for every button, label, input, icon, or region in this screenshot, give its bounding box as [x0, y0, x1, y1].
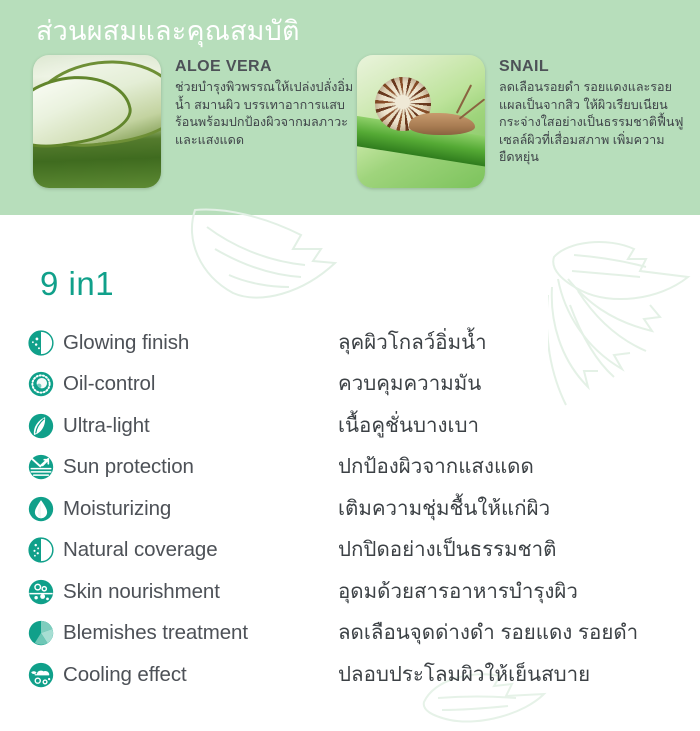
benefit-row: Skin nourishment อุดมด้วยสารอาหารบำรุงผิ… — [28, 571, 678, 613]
benefit-label-th: ปลอบประโลมผิวให้เย็นสบาย — [338, 662, 590, 688]
benefit-row: Natural coverage ปกปิดอย่างเป็นธรรมชาติ — [28, 530, 678, 572]
benefit-label-th: ลดเลือนจุดด่างดำ รอยแดง รอยดำ — [338, 620, 638, 646]
benefit-row: Moisturizing เติมความชุ่มชื้นให้แก่ผิว — [28, 488, 678, 530]
aloe-vera-photo — [33, 55, 161, 188]
moisturizing-icon — [28, 496, 54, 522]
benefit-label-th: ปกปิดอย่างเป็นธรรมชาติ — [338, 537, 556, 563]
ingredient-name: ALOE VERA — [175, 57, 365, 77]
ultra-light-icon — [28, 413, 54, 439]
benefit-label-th: ปกป้องผิวจากแสงแดด — [338, 454, 534, 480]
natural-coverage-icon — [28, 537, 54, 563]
benefit-label-en: Ultra-light — [63, 414, 338, 438]
ingredient-text-block: SNAIL ลดเลือนรอยดำ รอยแดงและรอยแผลเป็นจา… — [499, 57, 689, 167]
leaf-watermark-top — [185, 205, 345, 310]
ingredient-text-block: ALOE VERA ช่วยบำรุงพิวพรรณให้เปล่งปลั่งอ… — [175, 57, 365, 149]
benefit-row: Blemishes treatment ลดเลือนจุดด่างดำ รอย… — [28, 613, 678, 655]
benefit-row: Sun protection ปกป้องผิวจากแสงแดด — [28, 447, 678, 489]
benefit-row: Oil-control ควบคุมความมัน — [28, 364, 678, 406]
ingredient-description: ช่วยบำรุงพิวพรรณให้เปล่งปลั่งอิ่มน้ำ สมา… — [175, 79, 365, 149]
benefit-label-en: Blemishes treatment — [63, 621, 338, 645]
benefit-label-th: เติมความชุ่มชื้นให้แก่ผิว — [338, 496, 550, 522]
benefit-row: Ultra-light เนื้อคูชั่นบางเบา — [28, 405, 678, 447]
oil-control-icon — [28, 371, 54, 397]
snail-body-icon — [409, 113, 475, 135]
ingredient-description: ลดเลือนรอยดำ รอยแดงและรอยแผลเป็นจากสิว ใ… — [499, 79, 689, 167]
blemishes-treatment-icon — [28, 620, 54, 646]
benefit-row: Glowing finish ลุคผิวโกลว์อิ่มน้ำ — [28, 322, 678, 364]
snail-photo — [357, 55, 485, 188]
skin-nourishment-icon — [28, 579, 54, 605]
benefit-label-en: Cooling effect — [63, 663, 338, 687]
benefit-label-en: Moisturizing — [63, 497, 338, 521]
benefit-row: Cooling effect ปลอบประโลมผิวให้เย็นสบาย — [28, 654, 678, 696]
nine-in-one-heading: 9 in1 — [40, 265, 114, 303]
benefit-label-th: อุดมด้วยสารอาหารบำรุงผิว — [338, 579, 578, 605]
banner-title: ส่วนผสมและคุณสมบัติ — [36, 14, 300, 48]
ingredient-name: SNAIL — [499, 57, 689, 77]
benefits-list: Glowing finish ลุคผิวโกลว์อิ่มน้ำ Oil-co… — [28, 322, 678, 696]
benefit-label-en: Oil-control — [63, 372, 338, 396]
benefit-label-en: Glowing finish — [63, 331, 338, 355]
sun-protection-icon — [28, 454, 54, 480]
benefit-label-th: ควบคุมความมัน — [338, 371, 481, 397]
benefit-label-en: Skin nourishment — [63, 580, 338, 604]
ingredients-banner: ส่วนผสมและคุณสมบัติ ALOE VERA ช่วยบำรุงพ… — [0, 0, 700, 215]
benefit-label-th: ลุคผิวโกลว์อิ่มน้ำ — [338, 330, 487, 356]
cooling-effect-icon — [28, 662, 54, 688]
benefit-label-th: เนื้อคูชั่นบางเบา — [338, 413, 479, 439]
benefit-label-en: Natural coverage — [63, 538, 338, 562]
glowing-finish-icon — [28, 330, 54, 356]
benefit-label-en: Sun protection — [63, 455, 338, 479]
